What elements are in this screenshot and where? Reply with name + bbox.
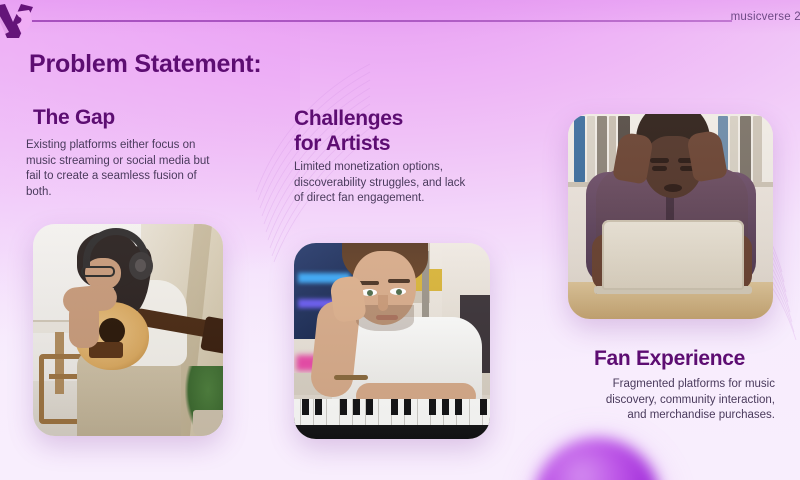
page-title: Problem Statement: [29, 50, 262, 79]
guitarist-with-headphones-photo [33, 224, 223, 436]
photo-bored-musician [294, 243, 490, 439]
photo-guitarist [33, 224, 223, 436]
photo-frustrated-man [568, 114, 773, 319]
purple-sphere-glow [506, 414, 690, 480]
bored-musician-at-keyboard-photo [294, 243, 490, 439]
block-body-challenges-for-artists: Limited monetization options, discoverab… [294, 160, 474, 207]
block-title-line-2: for Artists [294, 131, 494, 156]
block-title-line-1: Challenges [294, 106, 494, 131]
block-title-fan-experience: Fan Experience [594, 347, 745, 371]
block-title-the-gap: The Gap [33, 106, 115, 130]
block-body-fan-experience: Fragmented platforms for music discovery… [585, 377, 775, 424]
purple-sphere-decoration [534, 438, 660, 480]
slide-canvas: musicverse 202 Problem Statement: The Ga… [0, 0, 800, 480]
block-title-challenges-for-artists: Challenges for Artists [294, 106, 494, 156]
brand-tag: musicverse 202 [731, 11, 800, 23]
musicverse-logo[interactable] [0, 2, 35, 42]
background-gradient-top [0, 0, 800, 34]
frustrated-man-at-laptop-photo [568, 114, 773, 319]
header-rule [32, 20, 732, 22]
block-body-the-gap: Existing platforms either focus on music… [26, 138, 211, 200]
